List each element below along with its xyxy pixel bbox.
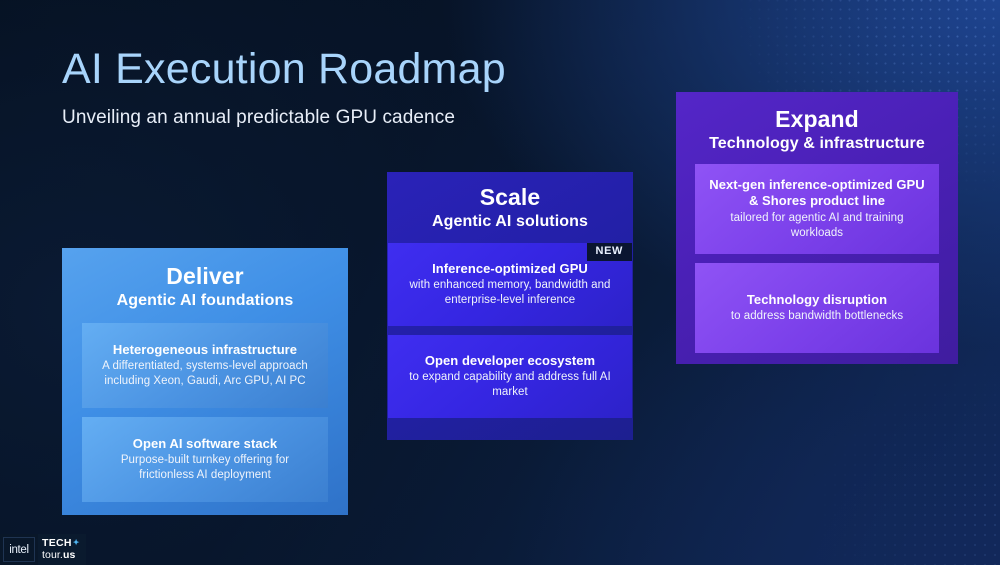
panel-inference-optimized-gpu[interactable]: NEW Inference-optimized GPU with enhance… [388, 243, 632, 326]
intel-logo: intel [0, 534, 38, 565]
pillar-card-deliver[interactable]: Deliver Agentic AI foundations Heterogen… [62, 248, 348, 515]
panel-body: A differentiated, systems-level approach… [94, 359, 316, 389]
tech-tour-word-tech: TECH [42, 538, 72, 549]
pillar-subtitle-deliver: Agentic AI foundations [62, 291, 348, 310]
panel-body: to address bandwidth bottlenecks [707, 309, 927, 324]
tech-tour-logo: TECH ✦ tour.us [38, 534, 86, 565]
pillar-title-scale: Scale [387, 184, 633, 211]
panel-open-developer-ecosystem[interactable]: Open developer ecosystem to expand capab… [388, 335, 632, 418]
panel-body: tailored for agentic AI and training wor… [707, 211, 927, 241]
panel-technology-disruption[interactable]: Technology disruption to address bandwid… [695, 263, 939, 353]
pillar-card-expand[interactable]: Expand Technology & infrastructure Next-… [676, 92, 958, 364]
panel-title: Inference-optimized GPU [400, 261, 620, 277]
panel-title: Heterogeneous infrastructure [94, 342, 316, 358]
status-badge-new: NEW [587, 243, 632, 261]
pillar-card-scale[interactable]: Scale Agentic AI solutions NEW Inference… [387, 172, 633, 440]
footer-logos: intel TECH ✦ tour.us [0, 534, 86, 565]
panel-title: Open developer ecosystem [400, 353, 620, 369]
sparkle-icon: ✦ [73, 539, 80, 547]
panel-next-gen-gpu-shores[interactable]: Next-gen inference-optimized GPU & Shore… [695, 164, 939, 254]
tech-tour-line1: TECH ✦ [42, 538, 86, 549]
page-subtitle: Unveiling an annual predictable GPU cade… [62, 107, 506, 129]
panel-heterogeneous-infrastructure[interactable]: Heterogeneous infrastructure A different… [82, 323, 328, 408]
panel-body: with enhanced memory, bandwidth and ente… [400, 278, 620, 308]
pillar-subtitle-expand: Technology & infrastructure [676, 134, 958, 153]
pillar-header-scale: Scale Agentic AI solutions [387, 172, 633, 231]
panel-stack-expand: Next-gen inference-optimized GPU & Shore… [676, 164, 958, 353]
panel-title: Open AI software stack [94, 436, 316, 452]
pillar-header-deliver: Deliver Agentic AI foundations [62, 248, 348, 310]
slide-header: AI Execution Roadmap Unveiling an annual… [62, 44, 506, 129]
dot-texture-bottom-right [690, 330, 1000, 565]
page-title: AI Execution Roadmap [62, 44, 506, 95]
tech-tour-line2: tour.us [42, 550, 86, 561]
slide-canvas: AI Execution Roadmap Unveiling an annual… [0, 0, 1000, 565]
tech-tour-word-tour: tour. [42, 549, 63, 561]
panel-title: Technology disruption [707, 292, 927, 308]
pillar-header-expand: Expand Technology & infrastructure [676, 92, 958, 153]
panel-body: to expand capability and address full AI… [400, 370, 620, 400]
panel-stack-deliver: Heterogeneous infrastructure A different… [62, 323, 348, 502]
pillar-subtitle-scale: Agentic AI solutions [387, 212, 633, 231]
panel-stack-scale: NEW Inference-optimized GPU with enhance… [387, 243, 633, 418]
panel-title: Next-gen inference-optimized GPU & Shore… [707, 177, 927, 210]
pillar-title-deliver: Deliver [62, 263, 348, 290]
panel-body: Purpose-built turnkey offering for frict… [94, 453, 316, 483]
pillar-title-expand: Expand [676, 106, 958, 133]
panel-open-ai-software-stack[interactable]: Open AI software stack Purpose-built tur… [82, 417, 328, 502]
tech-tour-word-us: us [63, 549, 75, 561]
intel-wordmark: intel [9, 544, 29, 556]
